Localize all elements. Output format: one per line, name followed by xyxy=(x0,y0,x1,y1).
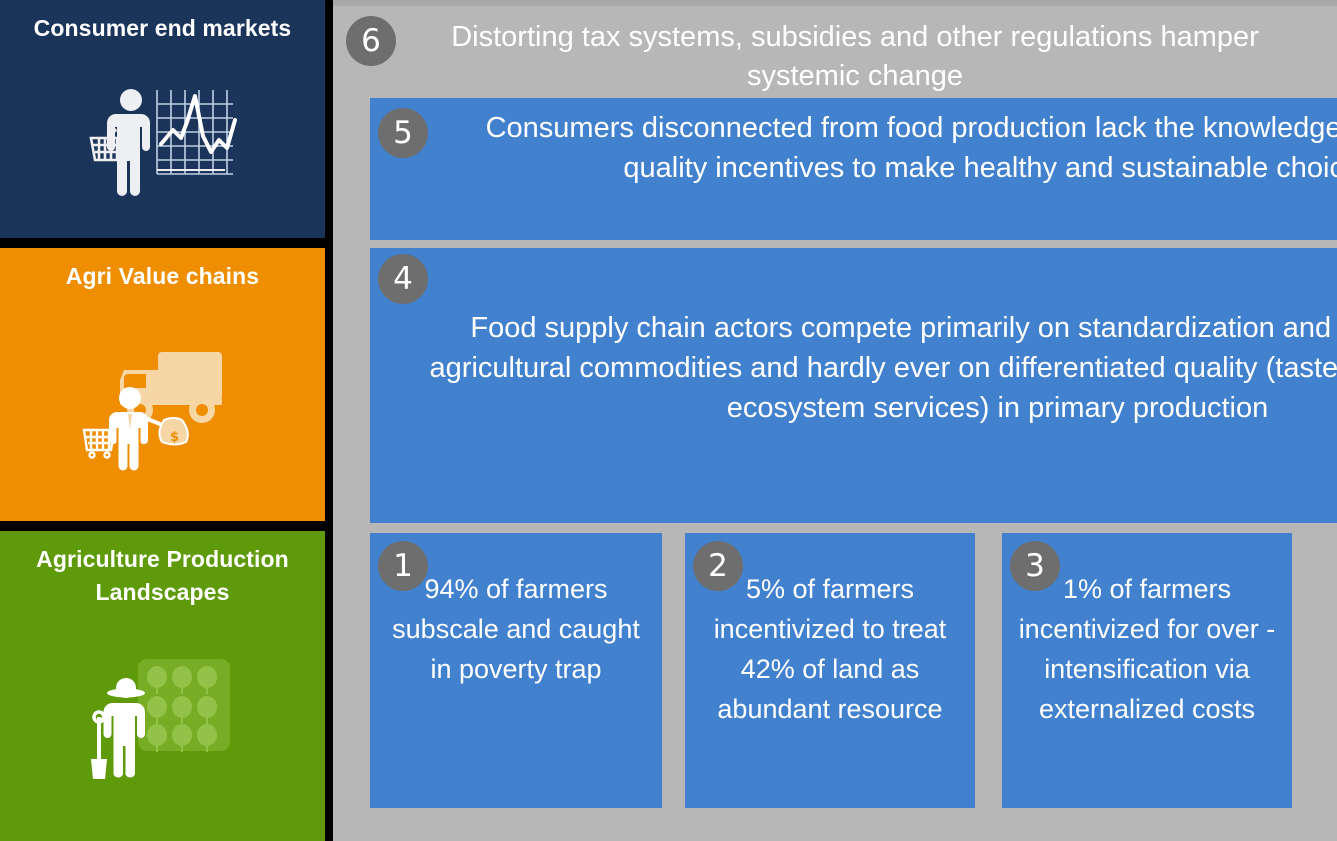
issue-5-text: Consumers disconnected from food product… xyxy=(440,108,1337,188)
issue-card-5[interactable]: Consumers disconnected from food product… xyxy=(370,98,1337,240)
slide-canvas: Consumer end markets xyxy=(0,0,1337,841)
issue-number-badge-4: 4 xyxy=(378,254,428,304)
shopper-with-chart-icon xyxy=(0,45,325,238)
issue-6-text: Distorting tax systems, subsidies and ot… xyxy=(437,18,1273,96)
issue-2-text: 5% of farmers incentivized to treat 42% … xyxy=(701,569,959,729)
issue-1-text: 94% of farmers subscale and caught in po… xyxy=(386,569,646,689)
issue-number-badge-3: 3 xyxy=(1010,541,1060,591)
lane-consumer-end-markets[interactable]: Consumer end markets xyxy=(0,0,325,238)
issue-number-badge-2: 2 xyxy=(693,541,743,591)
lane-title-agriculture-production-landscapes: Agriculture Production Landscapes xyxy=(13,543,313,610)
issue-4-text: Food supply chain actors compete primari… xyxy=(400,308,1337,428)
lane-title-agri-value-chains: Agri Value chains xyxy=(13,260,313,293)
issues-panel: 6 Distorting tax systems, subsidies and … xyxy=(333,0,1337,841)
issue-number-badge-5: 5 xyxy=(378,108,428,158)
svg-text:$: $ xyxy=(170,430,179,445)
trader-truck-moneybag-icon: $ xyxy=(0,293,325,521)
value-chain-lanes-column: Consumer end markets xyxy=(0,0,325,841)
lane-agriculture-production-landscapes[interactable]: Agriculture Production Landscapes xyxy=(0,531,325,841)
issue-number-badge-1: 1 xyxy=(378,541,428,591)
farmer-shovel-orchard-icon xyxy=(0,610,325,841)
issue-number-badge-6: 6 xyxy=(346,16,396,66)
issue-6-header[interactable]: 6 Distorting tax systems, subsidies and … xyxy=(333,8,1337,94)
issue-3-text: 1% of farmers incentivized for over - in… xyxy=(1018,569,1276,729)
lane-title-consumer-end-markets: Consumer end markets xyxy=(13,12,313,45)
panel-top-edge xyxy=(333,0,1337,6)
lane-agri-value-chains[interactable]: Agri Value chains xyxy=(0,248,325,521)
issue-card-4[interactable]: Food supply chain actors compete primari… xyxy=(370,248,1337,523)
